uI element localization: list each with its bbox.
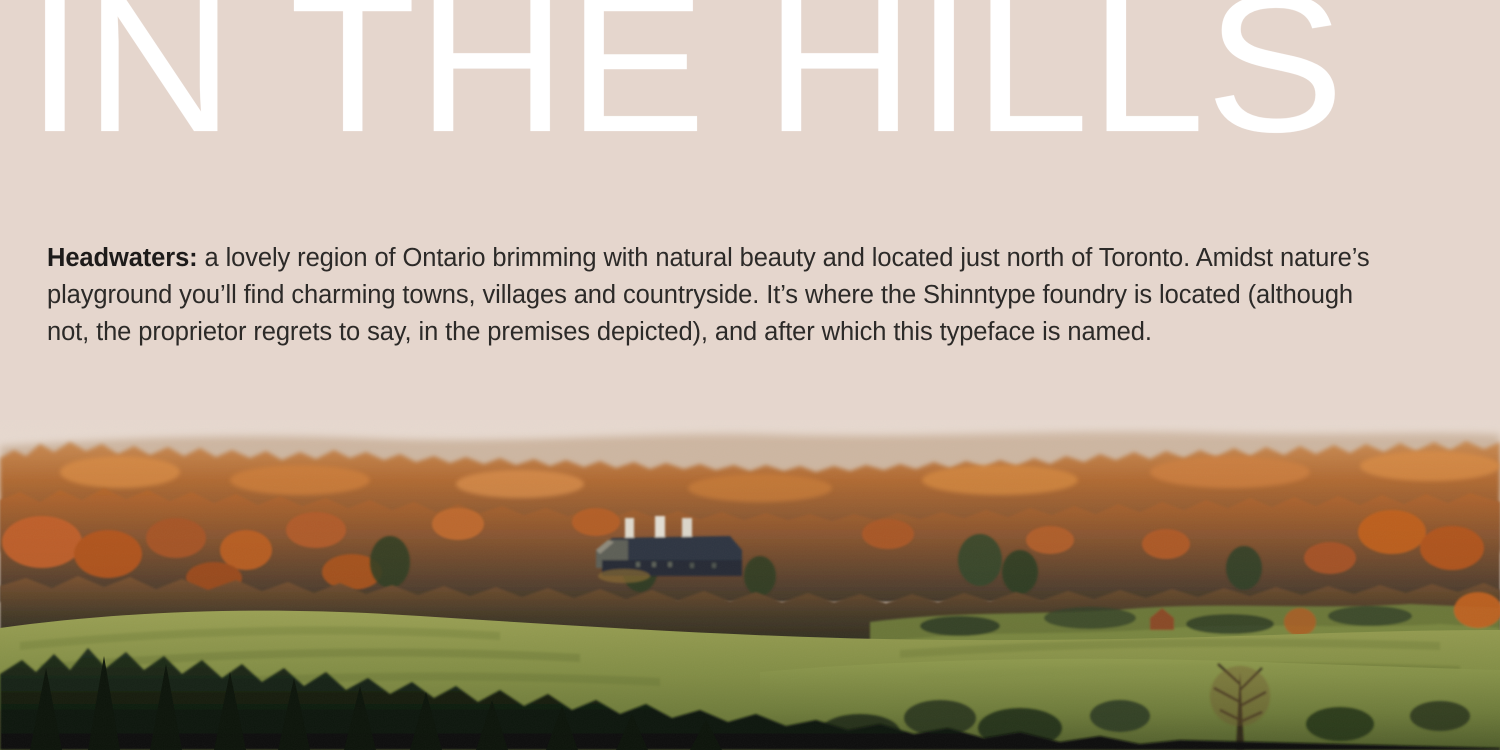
page-title: IN THE HILLS	[26, 0, 1345, 162]
intro-text-panel: IN THE HILLS Headwaters: a lovely region…	[0, 0, 1500, 420]
page-root: IN THE HILLS Headwaters: a lovely region…	[0, 0, 1500, 750]
hills-landscape-photo	[0, 372, 1500, 750]
intro-body-text: a lovely region of Ontario brimming with…	[47, 244, 1369, 346]
intro-lead-label: Headwaters:	[47, 244, 198, 272]
intro-paragraph: Headwaters: a lovely region of Ontario b…	[47, 240, 1377, 351]
